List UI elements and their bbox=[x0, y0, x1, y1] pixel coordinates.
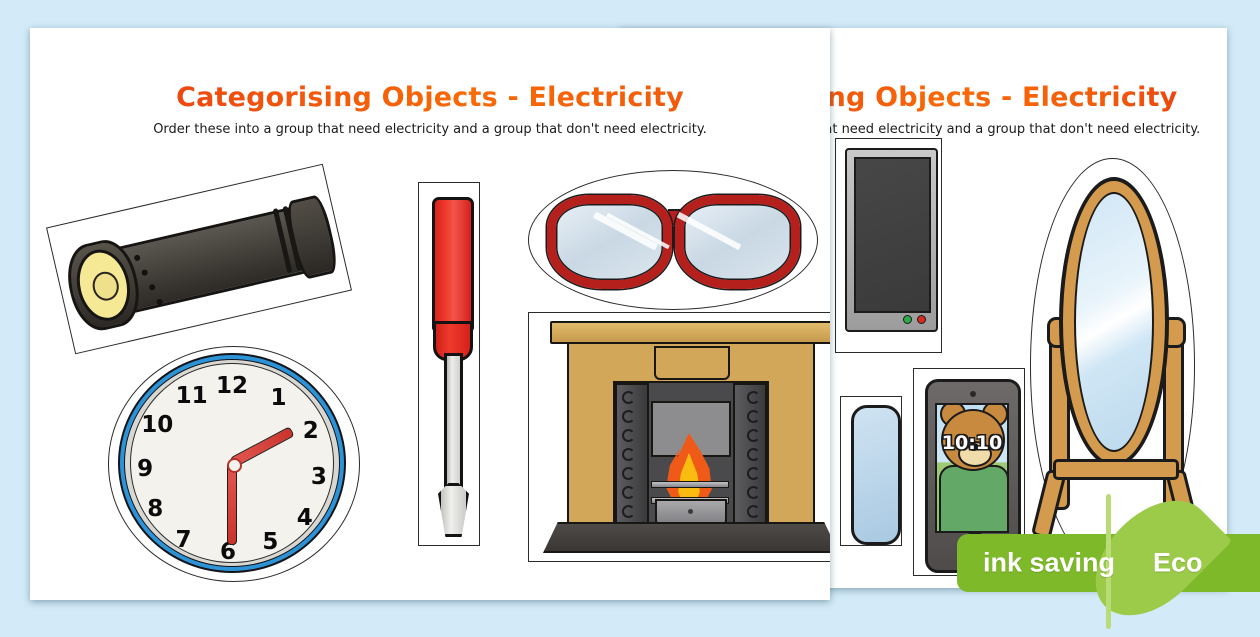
fireplace-pillar-left bbox=[615, 383, 649, 526]
clock-center-pin bbox=[227, 458, 242, 473]
television-bezel bbox=[845, 148, 938, 332]
card-fireplace[interactable] bbox=[528, 312, 830, 562]
card-blue-object[interactable] bbox=[840, 396, 902, 546]
clock-number-11: 11 bbox=[176, 383, 208, 409]
fireplace-hearth bbox=[543, 522, 830, 553]
television-led-red bbox=[917, 315, 926, 324]
fireplace-stud bbox=[747, 505, 760, 518]
blue-object-shape bbox=[851, 405, 901, 545]
clock-number-1: 1 bbox=[270, 385, 286, 411]
clock-number-10: 10 bbox=[141, 412, 173, 438]
phone-clock-time: 10:10 bbox=[937, 432, 1007, 454]
clock-number-4: 4 bbox=[297, 505, 313, 531]
clock-number-8: 8 bbox=[147, 496, 163, 522]
television-led-green bbox=[903, 315, 912, 324]
card-glasses[interactable] bbox=[528, 170, 818, 310]
page-title: Categorising Objects - Electricity bbox=[30, 82, 830, 113]
fireplace-stud bbox=[747, 391, 760, 404]
mirror-cross-bar bbox=[1053, 459, 1179, 480]
clock-number-9: 9 bbox=[137, 456, 153, 482]
fireplace-crest bbox=[654, 346, 730, 380]
clock-hour-hand bbox=[227, 463, 237, 545]
screenshot-stage: Categorising Objects - Electricity Order… bbox=[0, 0, 1260, 630]
fireplace-mantel bbox=[550, 321, 830, 344]
ink-saving-eco-badge: ink saving Eco bbox=[957, 534, 1260, 592]
clock-face: 12 1 2 3 4 5 6 7 8 9 10 11 bbox=[130, 363, 334, 563]
fireplace-stud bbox=[747, 448, 760, 461]
fireplace-stud bbox=[622, 505, 635, 518]
phone-screen: 10:10 bbox=[935, 403, 1009, 533]
fireplace-stud bbox=[622, 467, 635, 480]
mirror-frame bbox=[1059, 177, 1169, 467]
card-torch[interactable] bbox=[46, 164, 352, 355]
fireplace-stud bbox=[747, 486, 760, 499]
television-screen bbox=[854, 157, 931, 313]
screwdriver-shaft bbox=[444, 353, 463, 497]
worksheet-page-front[interactable]: Categorising Objects - Electricity Order… bbox=[30, 28, 830, 600]
glasses-lens-left bbox=[547, 195, 672, 289]
glasses-shine-2 bbox=[606, 213, 670, 249]
fireplace-pillar-right bbox=[733, 383, 767, 526]
fireplace-stud bbox=[622, 391, 635, 404]
clock-number-2: 2 bbox=[303, 418, 319, 444]
card-screwdriver[interactable] bbox=[418, 182, 480, 546]
fireplace-grate-bar-top bbox=[651, 481, 729, 488]
clock-number-5: 5 bbox=[262, 529, 278, 555]
eco-badge-ink-saving-label: ink saving bbox=[983, 548, 1115, 579]
screwdriver-handle bbox=[432, 197, 474, 331]
card-television[interactable] bbox=[835, 138, 942, 353]
fireplace-stud bbox=[622, 429, 635, 442]
page-subtitle: Order these into a group that need elect… bbox=[30, 122, 830, 137]
glasses-shine-1 bbox=[593, 211, 658, 250]
eco-badge-eco-label: Eco bbox=[1153, 548, 1203, 579]
fireplace-stud bbox=[622, 486, 635, 499]
fireplace-stud bbox=[622, 410, 635, 423]
clock-number-7: 7 bbox=[176, 527, 192, 553]
fireplace-stud bbox=[622, 448, 635, 461]
screwdriver-tip bbox=[438, 483, 469, 537]
clock-number-12: 12 bbox=[216, 373, 248, 399]
glasses-shine-3 bbox=[677, 212, 742, 250]
clock-number-3: 3 bbox=[311, 464, 327, 490]
fireplace-stud bbox=[747, 410, 760, 423]
bear-body bbox=[939, 465, 1009, 533]
phone-camera-icon bbox=[970, 391, 976, 397]
glasses-lens-right bbox=[675, 195, 800, 289]
fireplace-stud bbox=[747, 429, 760, 442]
card-clock[interactable]: 12 1 2 3 4 5 6 7 8 9 10 11 bbox=[108, 346, 360, 582]
mirror-glass bbox=[1074, 192, 1154, 452]
fireplace-stud bbox=[747, 467, 760, 480]
